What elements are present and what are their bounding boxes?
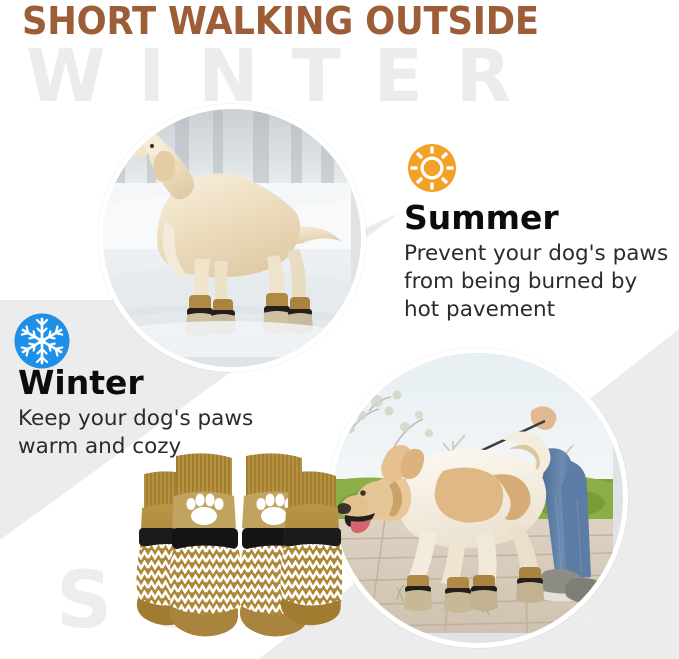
winter-photo-image	[103, 109, 361, 367]
summer-photo	[328, 348, 628, 648]
summer-body-text: Prevent your dog's paws from being burne…	[404, 240, 676, 324]
page-title: SHORT WALKING OUTSIDE	[22, 1, 539, 42]
snowflake-icon	[13, 312, 71, 370]
winter-heading: Winter	[18, 366, 144, 399]
summer-heading: Summer	[404, 201, 559, 234]
watermark-winter: WINTER	[26, 40, 544, 112]
infographic-canvas: WINTER SUMMER SHORT WALKING OUTSIDE	[0, 0, 679, 659]
winter-photo	[98, 104, 366, 372]
sun-icon	[406, 142, 458, 194]
summer-photo-image	[333, 353, 623, 643]
product-photo	[132, 440, 342, 659]
